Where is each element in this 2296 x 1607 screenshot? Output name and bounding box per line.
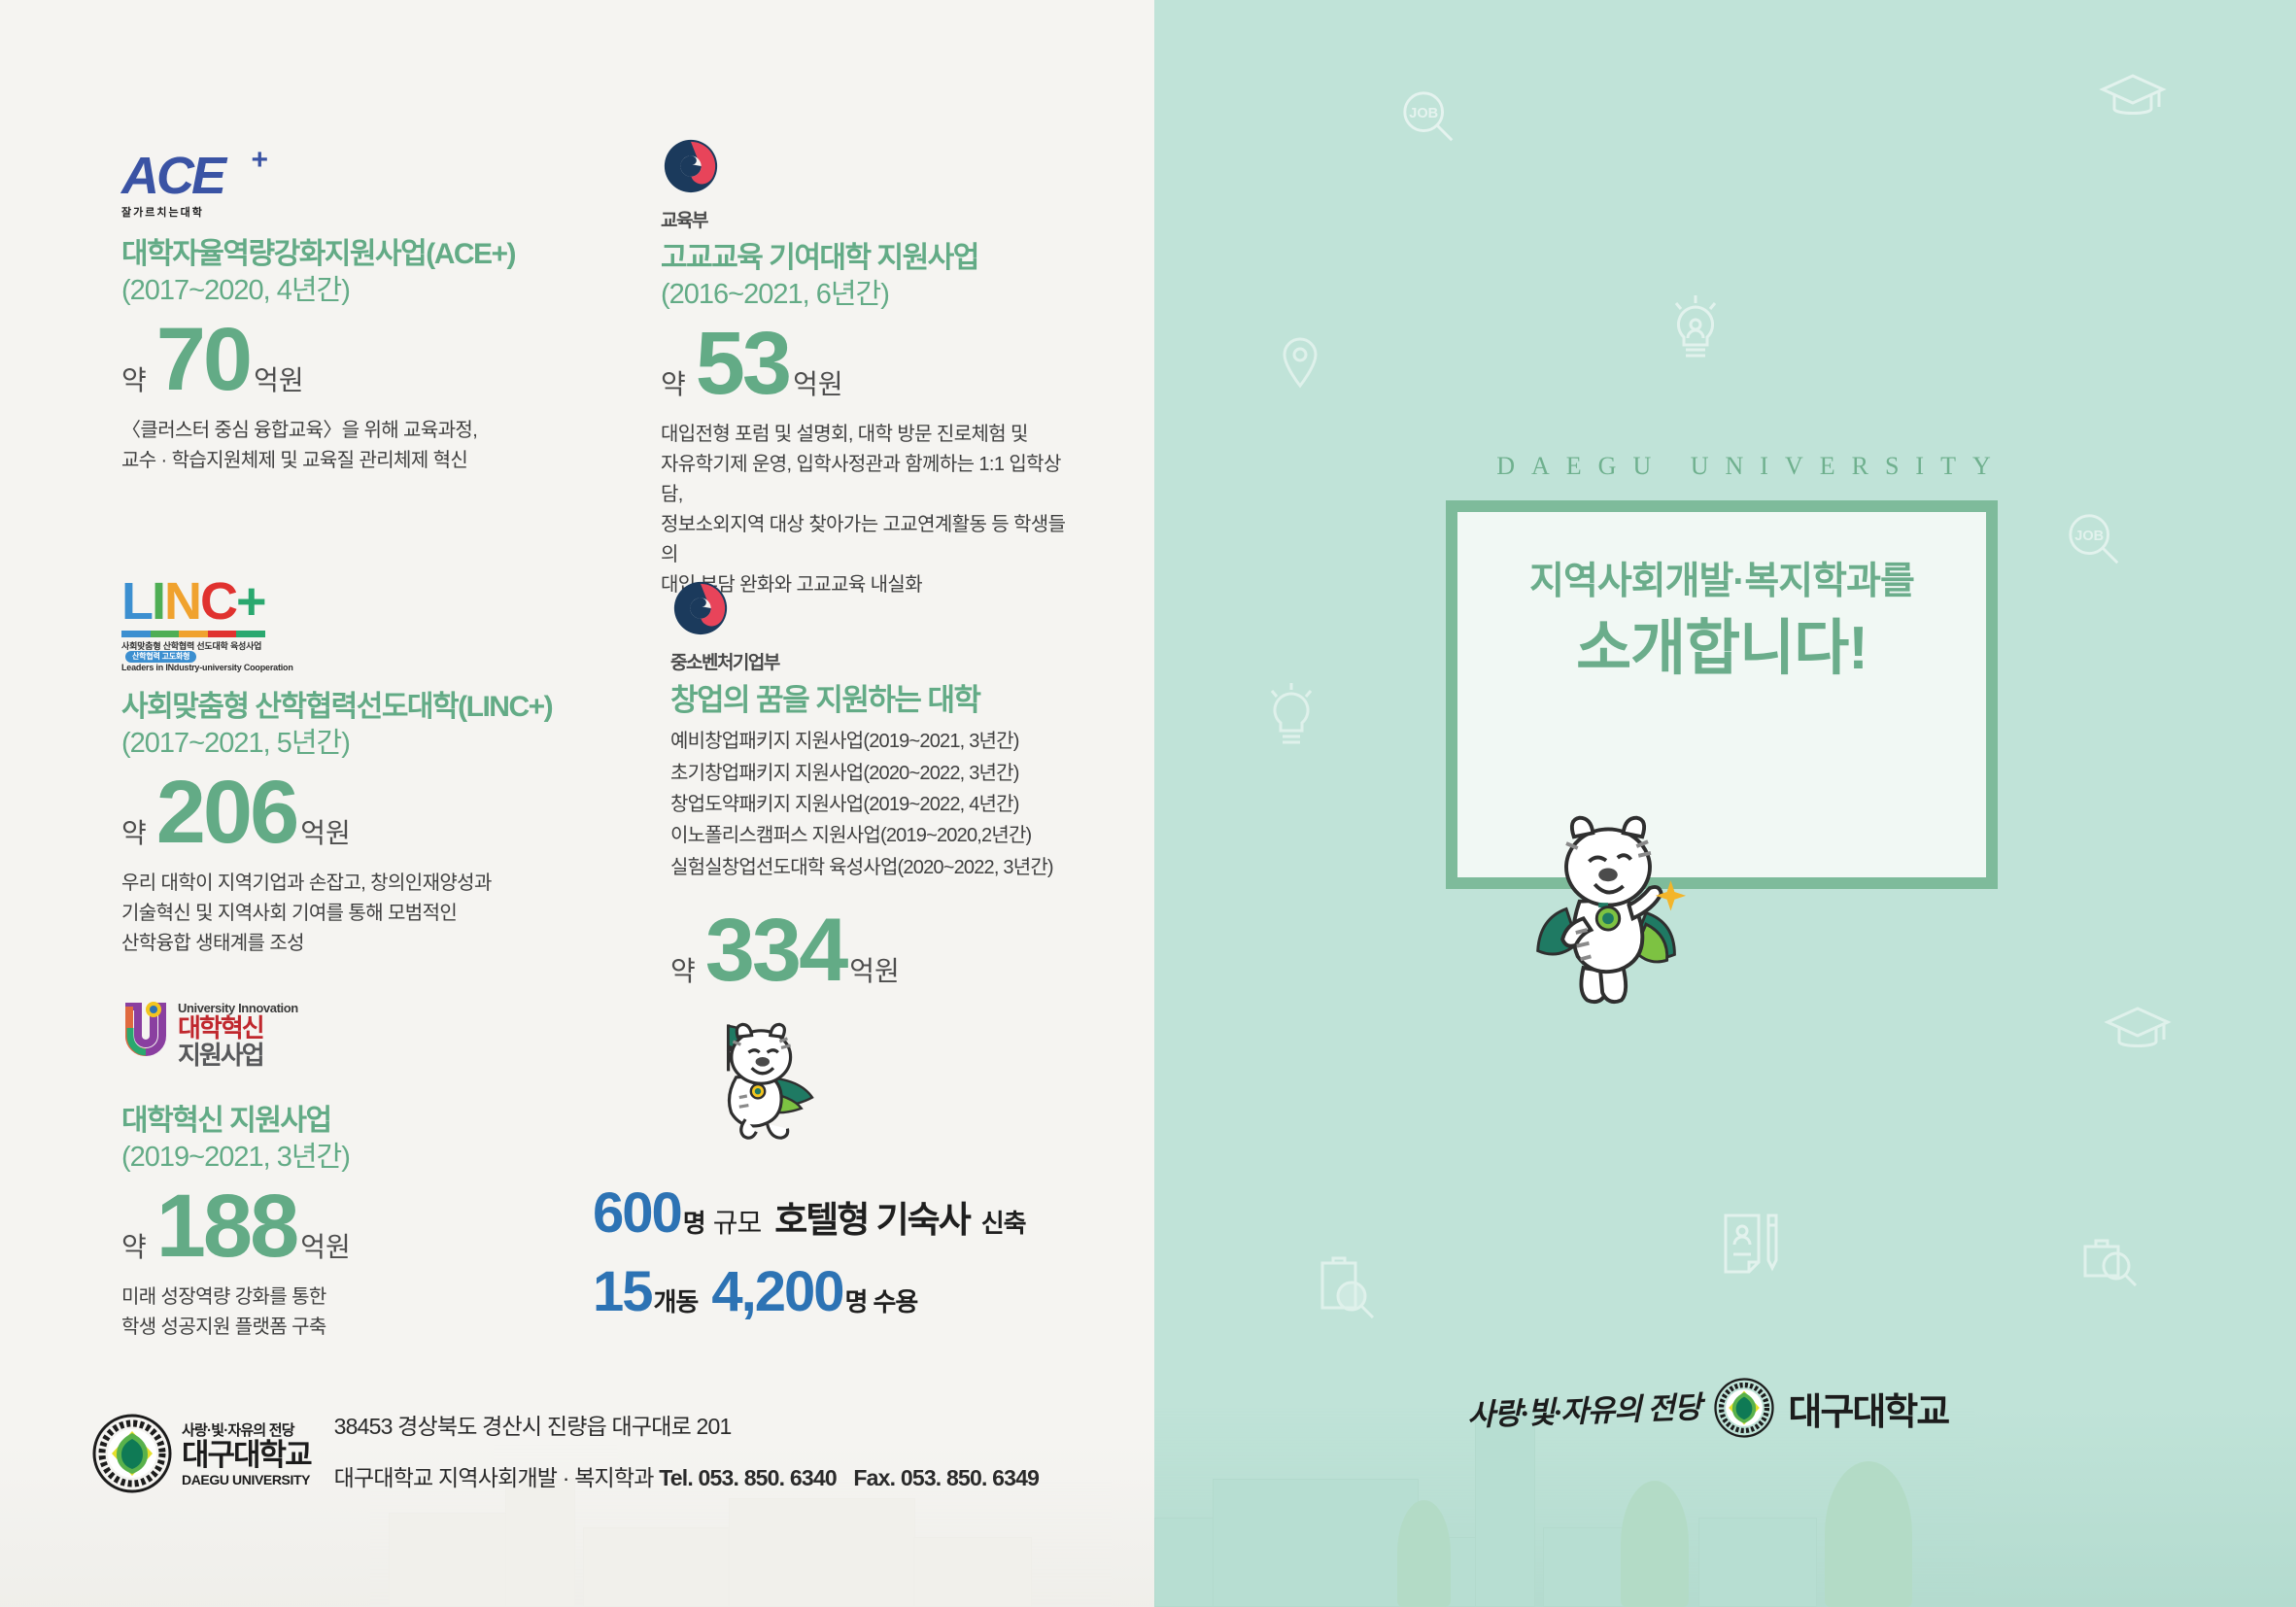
dorm-building-unit: 개동 [654, 1282, 699, 1318]
dorm-capacity-number: 600 [593, 1180, 681, 1246]
linc-logo-subtitle-ko: 사회맞춤형 산학협력 선도대학 육성사업 [121, 641, 261, 651]
ministry-name: 교육부 [661, 206, 1079, 232]
footer-slogan: 사랑·빛·자유의 전당 [182, 1419, 311, 1440]
list-item: 창업도약패키지 지원사업(2019~2022, 4년간) [670, 789, 1079, 820]
ace-plus-logo: ACE + 잘가르치는대학 [121, 146, 578, 220]
ace-logo-subtitle: 잘가르치는대학 [121, 204, 272, 220]
footer-fax: Fax. 053. 850. 6349 [853, 1465, 1039, 1490]
dorm-total-capacity: 4,200 [711, 1259, 842, 1324]
program-card-university-innovation: University Innovation 대학혁신 지원사업 대학혁신 지원사… [121, 991, 530, 1343]
dorm-building-count: 15 [593, 1259, 652, 1324]
daegu-university-caps-heading: DAEGU UNIVERSITY [1441, 452, 2063, 481]
program-title: 고교교육 기여대학 지원사업 [661, 239, 1079, 277]
dorm-scale-label: 규모 [713, 1202, 762, 1241]
amount-value: 334 [705, 908, 846, 993]
program-period: (2017~2021, 5년간) [121, 726, 627, 763]
linc-logo-colorbar [121, 631, 265, 637]
daegu-university-logo: 사랑·빛·자유의 전당 대구대학교 DAEGU UNIVERSITY [92, 1414, 311, 1493]
linc-logo-text: LINC+ [121, 575, 306, 628]
amount-prefix: 약 [121, 1226, 147, 1265]
u-letter-icon [121, 1001, 170, 1057]
program-card-startup: 중소벤처기업부 창업의 꿈을 지원하는 대학 예비창업패키지 지원사업(2019… [670, 578, 1079, 994]
amount-value: 188 [156, 1184, 297, 1269]
amount-unit: 억원 [849, 950, 900, 989]
footer-university-name: 대구대학교 [1788, 1382, 1948, 1435]
dormitory-stats: 600 명 규모 호텔형 기숙사 신축 15 개동 4,200 명 수용 [593, 1180, 1049, 1338]
footer-contact-block: 38453 경상북도 경산시 진량읍 대구대로 201 대구대학교 지역사회개발… [334, 1415, 1040, 1491]
footer-address: 38453 경상북도 경산시 진량읍 대구대로 201 [334, 1415, 1040, 1439]
tiger-mascot-icon [680, 1010, 836, 1166]
list-item: 이노폴리스캠퍼스 지원사업(2019~2020,2년간) [670, 820, 1079, 851]
footer-slogan-script: 사랑·빛·자유의 전당 [1466, 1382, 1701, 1433]
brochure-page: ACE + 잘가르치는대학 대학자율역량강화지원사업(ACE+) (2017~2… [0, 0, 2296, 1607]
amount-prefix: 약 [121, 359, 147, 398]
dorm-action-label: 신축 [981, 1204, 1026, 1240]
logo-text-primary: 대학혁신 [178, 1015, 298, 1042]
university-innovation-logo: University Innovation 대학혁신 지원사업 [121, 991, 530, 1069]
ace-logo-text: ACE [121, 150, 272, 202]
amount-unit: 억원 [254, 359, 304, 398]
dorm-line-1: 600 명 규모 호텔형 기숙사 신축 [593, 1180, 1049, 1246]
ministry-name: 중소벤처기업부 [670, 648, 1079, 674]
amount-value: 206 [156, 770, 297, 855]
program-card-ace: ACE + 잘가르치는대학 대학자율역량강화지원사업(ACE+) (2017~2… [121, 146, 578, 476]
program-title: 사회맞춤형 산학협력선도대학(LINC+) [121, 688, 627, 726]
program-item-list: 예비창업패키지 지원사업(2019~2021, 3년간) 초기창업패키지 지원사… [670, 726, 1079, 883]
taegeuk-emblem-icon [670, 578, 731, 638]
intro-title: 소개합니다! [1457, 616, 1986, 682]
daegu-university-seal-icon [1714, 1378, 1774, 1438]
intro-subtitle: 지역사회개발·복지학과를 [1457, 559, 1986, 606]
dorm-capacity-unit: 명 [683, 1204, 705, 1240]
footer-university-name-en: DAEGU UNIVERSITY [182, 1472, 311, 1487]
list-item: 초기창업패키지 지원사업(2020~2022, 3년간) [670, 758, 1079, 789]
footer-tel: Tel. 053. 850. 6340 [659, 1465, 837, 1490]
daegu-university-seal-icon [92, 1414, 172, 1493]
program-card-high-school-education: 교육부 고교교육 기여대학 지원사업 (2016~2021, 6년간) 약 53… [661, 136, 1079, 600]
dorm-total-unit: 명 [845, 1282, 868, 1318]
program-card-linc: LINC+ 사회맞춤형 산학협력 선도대학 육성사업 산학협력 고도화형 Lea… [121, 583, 627, 959]
program-amount: 약 70 억원 [121, 318, 578, 402]
list-item: 예비창업패키지 지원사업(2019~2021, 3년간) [670, 726, 1079, 757]
korea-ministry-of-education-emblem: 교육부 [661, 136, 1079, 223]
program-title: 대학자율역량강화지원사업(ACE+) [121, 235, 578, 273]
program-period: (2019~2021, 3년간) [121, 1140, 530, 1177]
amount-prefix: 약 [661, 363, 686, 402]
amount-value: 53 [696, 322, 789, 406]
program-description: 미래 성장역량 강화를 통한 학생 성공지원 플랫폼 구축 [121, 1282, 530, 1343]
footer-university-name: 대구대학교 [182, 1440, 311, 1470]
amount-prefix: 약 [670, 950, 696, 989]
tiger-mascot-icon [1496, 806, 1720, 1015]
dorm-type-label: 호텔형 기숙사 [774, 1190, 970, 1243]
linc-logo-pill: 산학협력 고도화형 [125, 651, 196, 662]
ace-logo-plus: + [251, 144, 268, 177]
program-amount: 약 206 억원 [121, 770, 627, 855]
program-description: 〈클러스터 중심 융합교육〉을 위해 교육과정, 교수 · 학습지원체제 및 교… [121, 416, 578, 476]
list-item: 실험실창업선도대학 육성사업(2020~2022, 3년간) [670, 852, 1079, 883]
amount-unit: 억원 [300, 1226, 351, 1265]
footer-right: 사랑·빛·자유의 전당 대구대학교 [1467, 1378, 1948, 1438]
left-panel: ACE + 잘가르치는대학 대학자율역량강화지원사업(ACE+) (2017~2… [0, 0, 1154, 1607]
footer-department: 대구대학교 지역사회개발 · 복지학과 [334, 1465, 654, 1490]
amount-value: 70 [156, 318, 250, 402]
program-amount: 약 53 억원 [661, 322, 1079, 406]
program-title: 대학혁신 지원사업 [121, 1102, 530, 1140]
footer-contact: 대구대학교 지역사회개발 · 복지학과 Tel. 053. 850. 6340 … [334, 1459, 1040, 1492]
taegeuk-emblem-icon [661, 136, 721, 196]
linc-logo-subtitle-en: Leaders in INdustry-university Cooperati… [121, 663, 306, 672]
program-amount: 약 188 억원 [121, 1184, 530, 1269]
program-period: (2016~2021, 6년간) [661, 277, 1079, 314]
amount-unit: 억원 [300, 812, 351, 851]
footer-left: 사랑·빛·자유의 전당 대구대학교 DAEGU UNIVERSITY 38453… [92, 1414, 1039, 1493]
program-title: 창업의 꿈을 지원하는 대학 [670, 681, 1079, 720]
linc-logo-subtitle: 사회맞춤형 산학협력 선도대학 육성사업 산학협력 고도화형 Leaders i… [121, 641, 306, 672]
amount-prefix: 약 [121, 812, 147, 851]
linc-plus-logo: LINC+ 사회맞춤형 산학협력 선도대학 육성사업 산학협력 고도화형 Lea… [121, 583, 627, 672]
logo-text-secondary: 지원사업 [178, 1043, 298, 1069]
program-amount: 약 334 억원 [670, 908, 1079, 993]
dorm-capacity-label: 수용 [873, 1282, 917, 1318]
program-description: 우리 대학이 지역기업과 손잡고, 창의인재양성과 기술혁신 및 지역사회 기여… [121, 869, 627, 959]
dorm-line-2: 15 개동 4,200 명 수용 [593, 1259, 1049, 1324]
program-period: (2017~2020, 4년간) [121, 273, 578, 310]
korea-ministry-of-smes-and-startups-emblem: 중소벤처기업부 [670, 578, 1079, 666]
amount-unit: 억원 [793, 363, 843, 402]
program-description: 대입전형 포럼 및 설명회, 대학 방문 진로체험 및 자유학기제 운영, 입학… [661, 420, 1079, 600]
